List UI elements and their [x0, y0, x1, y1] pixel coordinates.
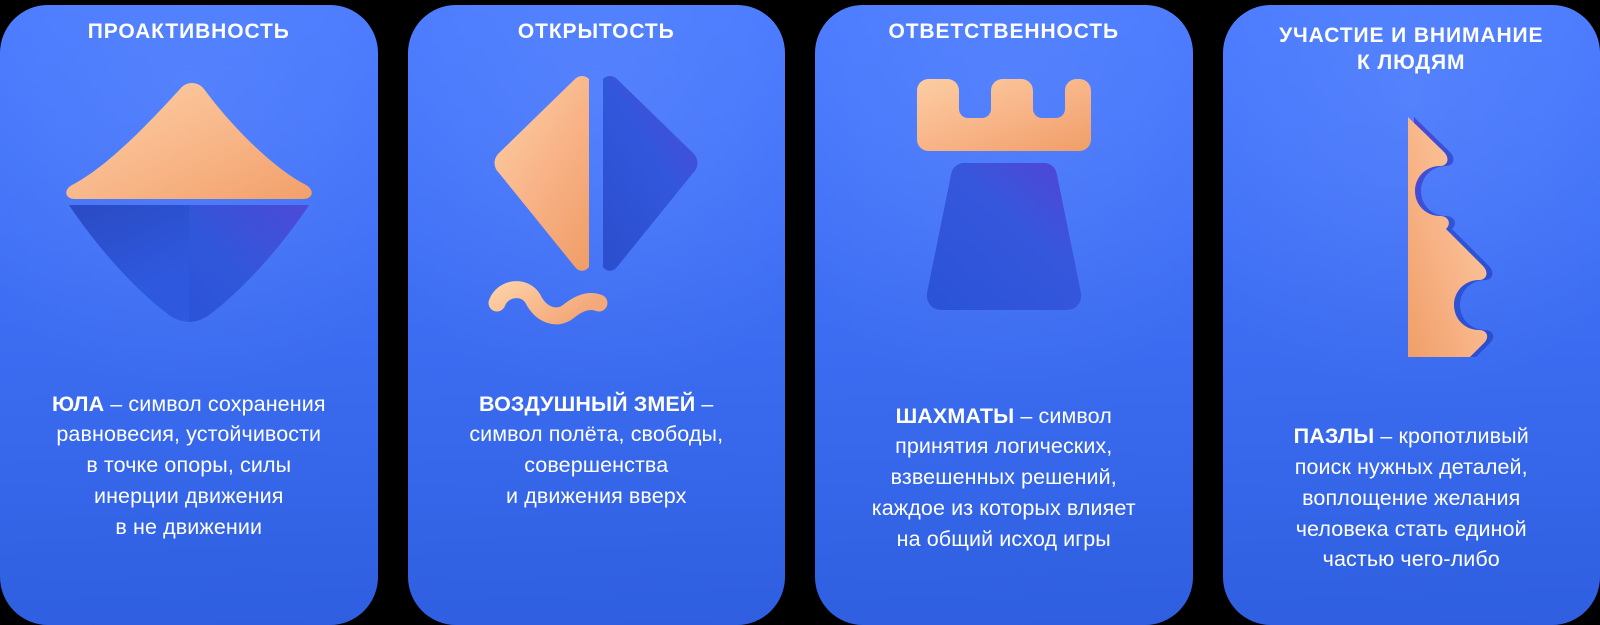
card-title: УЧАСТИЕ И ВНИМАНИЕ К ЛЮДЯМ [1263, 23, 1559, 77]
value-card-responsibility[interactable]: ОТВЕТСТВЕННОСТЬ [815, 5, 1193, 625]
card-title: ОТКРЫТОСТЬ [502, 19, 691, 46]
value-card-empathy[interactable]: УЧАСТИЕ И ВНИМАНИЕ К ЛЮДЯМ [1223, 5, 1600, 625]
card-description: ПАЗЛЫ – кропотливый поиск нужных деталей… [1276, 391, 1547, 575]
spinning-top-icon [0, 52, 378, 352]
card-title: ОТВЕТСТВЕННОСТЬ [872, 19, 1135, 46]
card-description: ВОЗДУШНЫЙ ЗМЕЙ – символ полёта, свободы,… [451, 358, 741, 512]
value-card-openness[interactable]: ОТКРЫТОСТЬ [408, 5, 786, 625]
card-lead-term: ШАХМАТЫ [896, 404, 1015, 428]
card-description: ШАХМАТЫ – символ принятия логических, вз… [854, 370, 1154, 554]
card-description: ЮЛА – символ сохранения равновесия, усто… [34, 358, 344, 542]
card-lead-term: ПАЗЛЫ [1294, 424, 1375, 448]
value-card-proactivity[interactable]: ПРОАКТИВНОСТЬ [0, 5, 378, 625]
puzzle-pieces-icon [1223, 83, 1600, 383]
card-lead-term: ЮЛА [52, 392, 104, 416]
values-cards-board: ПРОАКТИВНОСТЬ [0, 0, 1600, 625]
card-lead-term: ВОЗДУШНЫЙ ЗМЕЙ [479, 392, 695, 416]
chess-rook-icon [815, 52, 1193, 352]
card-title: ПРОАКТИВНОСТЬ [72, 19, 306, 46]
kite-icon [408, 52, 786, 352]
